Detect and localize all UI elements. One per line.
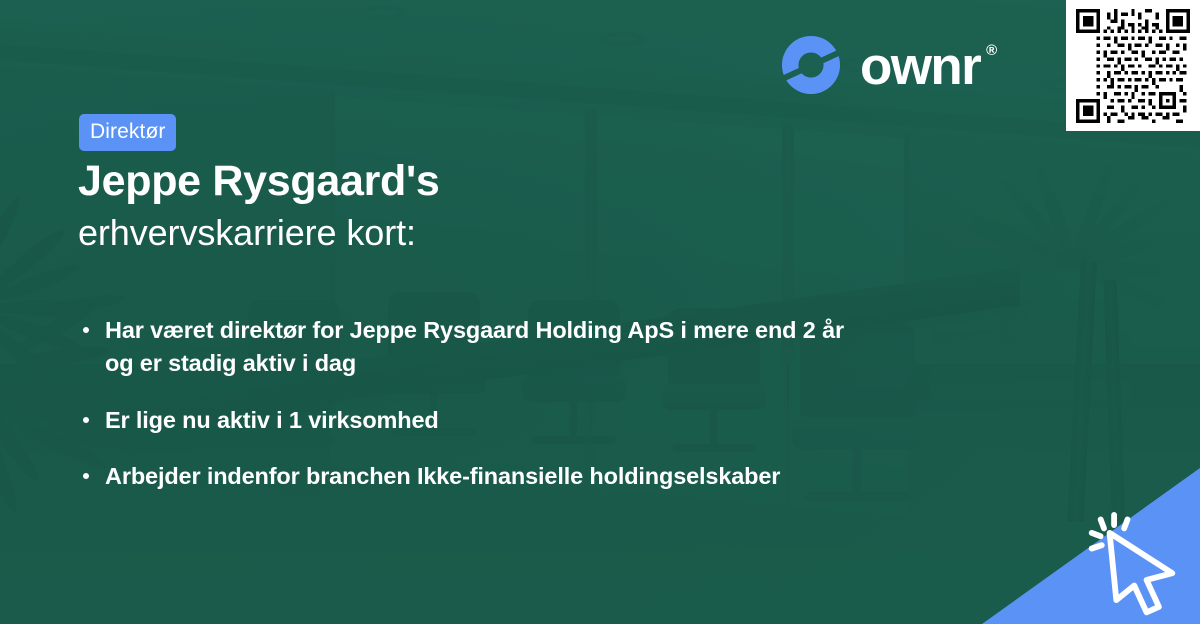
qr-code-panel[interactable]	[1066, 0, 1200, 131]
bullet-dot-icon	[83, 473, 89, 479]
list-item: Arbejder indenfor branchen Ikke-finansie…	[80, 460, 880, 493]
bullet-dot-icon	[83, 327, 89, 333]
click-cursor-icon	[1076, 506, 1188, 618]
career-card: Direktør Jeppe Rysgaard's erhvervskarrie…	[0, 0, 1200, 624]
list-item-text: Arbejder indenfor branchen Ikke-finansie…	[105, 463, 780, 489]
list-item: Har været direktør for Jeppe Rysgaard Ho…	[80, 314, 865, 381]
qr-code-icon[interactable]	[1076, 9, 1190, 123]
bullet-dot-icon	[83, 417, 89, 423]
career-facts-list: Har været direktør for Jeppe Rysgaard Ho…	[80, 314, 880, 493]
ownr-circle-swirl-icon	[778, 32, 844, 98]
list-item-text: Har været direktør for Jeppe Rysgaard Ho…	[105, 317, 844, 376]
ownr-wordmark-text: ownr	[860, 37, 980, 96]
role-badge: Direktør	[79, 114, 176, 151]
list-item: Er lige nu aktiv i 1 virksomhed	[80, 404, 880, 437]
registered-trademark-icon: ®	[986, 43, 997, 58]
ownr-logo[interactable]: ownr ®	[778, 32, 980, 98]
page-subtitle: erhvervskarriere kort:	[78, 212, 416, 253]
page-title: Jeppe Rysgaard's	[78, 158, 440, 204]
list-item-text: Er lige nu aktiv i 1 virksomhed	[105, 407, 439, 433]
ownr-wordmark: ownr ®	[860, 37, 980, 93]
